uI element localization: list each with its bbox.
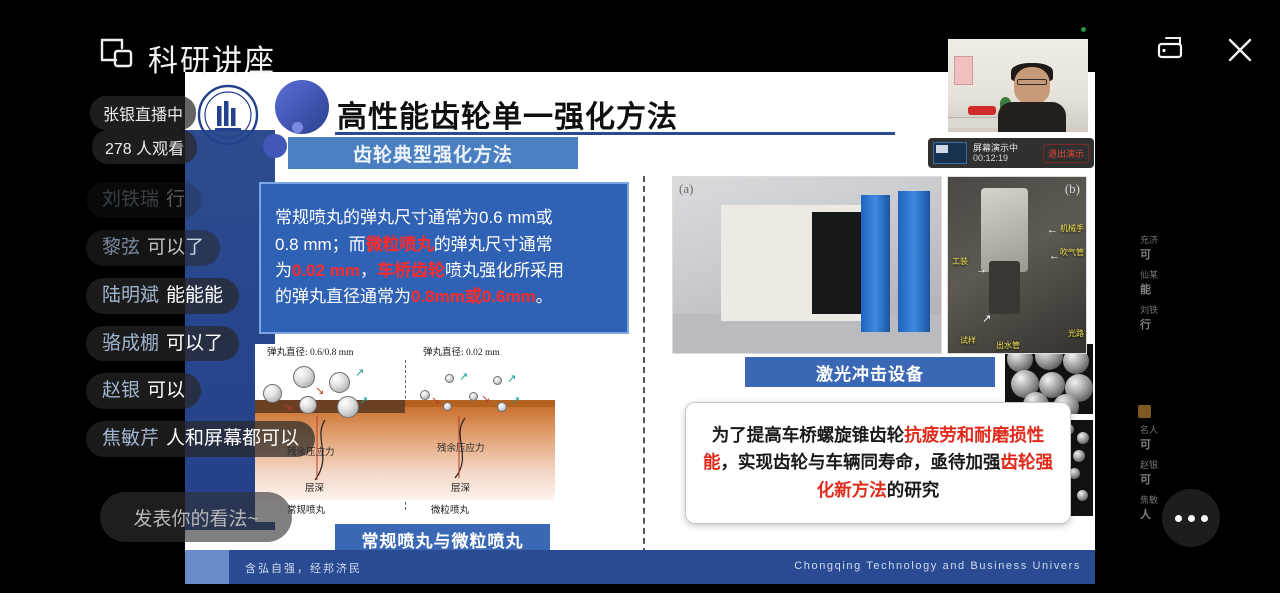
micro-peening-ball: [493, 376, 502, 385]
minimize-window-icon: [1154, 33, 1194, 67]
chat-user: 黎弦: [102, 237, 140, 258]
panel-row: 赵银可: [1138, 455, 1184, 490]
chat-text: 可以了: [147, 237, 204, 258]
robot-label-fixture: 工装: [952, 256, 968, 267]
conclusion-l1-a: 为了提高车桥螺旋锥齿轮: [712, 425, 905, 445]
blue-line4-highlight: 0.8mm或0.6mm: [411, 287, 536, 306]
minimize-window-button[interactable]: [1154, 30, 1194, 70]
photo-robot-arm: (b) 机械手 吹气管 工装 试样 出水管 光路 ← ← → ↗: [947, 176, 1087, 354]
close-button[interactable]: [1220, 30, 1260, 70]
chat-message-list: 刘铁瑞行 黎弦可以了 陆明斌能能能 骆成棚可以了 赵银可以 焦敏芹人和屏幕都可以: [86, 182, 386, 469]
slide-deco-circle-small: [292, 122, 303, 133]
impact-arrow-icon: ↘: [431, 396, 440, 407]
panel-row: 刘铁行: [1138, 300, 1184, 335]
panel-avatar: [1138, 405, 1151, 418]
page-title: 科研讲座: [148, 36, 276, 80]
robot-label-water-tube: 出水管: [996, 340, 1020, 351]
chat-user: 焦敏芹: [102, 428, 159, 449]
chat-message: 焦敏芹人和屏幕都可以: [86, 421, 315, 457]
chat-user: 赵银: [102, 380, 140, 401]
robot-label-optical-path: 光路: [1068, 328, 1084, 339]
share-timer: 00:12:19: [973, 153, 1018, 163]
rebound-arrow-icon: ↗: [459, 372, 468, 383]
photo-a-tag: (a): [679, 181, 693, 197]
slide-footer-accent: [185, 550, 229, 584]
slide-conclusion-box: 为了提高车桥螺旋锥齿轮抗疲劳和耐磨损性能，实现齿轮与车辆同寿命，亟待加强齿轮强化…: [685, 402, 1071, 524]
share-status-text: 屏幕演示中 00:12:19: [973, 143, 1018, 164]
more-dot-icon: [1175, 515, 1182, 522]
blue-line3-highlight-2: 车桥齿轮: [377, 261, 445, 280]
chat-message: 赵银可以: [86, 373, 201, 409]
live-lecture-window: 高性能齿轮单一强化方法 重 Chongqing 齿轮典型强化方法 常规喷丸的弹丸…: [0, 0, 1280, 593]
slide-footer-motto: 含弘自强，经邦济民: [245, 560, 362, 576]
chat-text: 可以了: [166, 333, 223, 354]
share-status-label: 屏幕演示中: [973, 143, 1018, 153]
conclusion-l2-b: ，实现齿轮与车辆同寿命，亟待: [721, 452, 966, 472]
chat-message: 刘铁瑞行: [86, 182, 201, 218]
rebound-arrow-icon: ↗: [511, 396, 520, 407]
picture-in-picture-icon[interactable]: [98, 34, 136, 72]
chat-text: 行: [166, 189, 185, 210]
blue-line4-b: 。: [536, 287, 553, 306]
window-header: 科研讲座: [0, 0, 1280, 92]
chat-message: 黎弦可以了: [86, 230, 220, 266]
host-status-badge: 张银直播中: [90, 96, 196, 130]
annotation-arrow-icon: ↗: [982, 314, 991, 325]
annotation-arrow-icon: ←: [1049, 251, 1060, 262]
slide-vertical-divider: [643, 176, 645, 564]
caption-laser-equipment: 激光冲击设备: [745, 357, 995, 387]
chat-user: 刘铁瑞: [102, 189, 159, 210]
screen-share-badge: 屏幕演示中 00:12:19 退出演示: [928, 138, 1094, 168]
chat-text: 人和屏幕都可以: [166, 428, 299, 449]
recording-indicator-icon: [1081, 27, 1086, 32]
chat-user: 陆明斌: [102, 285, 159, 306]
chat-user: 骆成棚: [102, 333, 159, 354]
conclusion-l3-a: 加强: [966, 452, 1001, 472]
robot-label-manipulator: 机械手: [1060, 223, 1084, 234]
chat-text: 能能能: [166, 285, 223, 306]
conclusion-l1-highlight: 抗疲劳和耐磨: [904, 425, 1009, 445]
slide-title-underline: [335, 132, 895, 135]
slide-subtitle: 齿轮典型强化方法: [353, 140, 513, 167]
photo-laser-equipment: (a): [672, 176, 942, 354]
slide-footer: 含弘自强，经邦济民 Chongqing Technology and Busin…: [185, 550, 1095, 584]
chat-text: 可以: [147, 380, 185, 401]
robot-label-specimen: 试样: [960, 335, 976, 346]
conclusion-text: 为了提高车桥螺旋锥齿轮抗疲劳和耐磨损性能，实现齿轮与车辆同寿命，亟待加强齿轮强化…: [702, 422, 1054, 503]
micro-peening-ball: [445, 374, 454, 383]
window-controls: [1154, 30, 1260, 70]
diagram-label-right: 弹丸直径: 0.02 mm: [423, 344, 500, 358]
conclusion-l3-b: 的研究: [887, 480, 940, 500]
blue-line2-b: 的弹丸尺寸通常: [434, 235, 553, 254]
annotation-arrow-icon: →: [976, 265, 987, 276]
slide-footer-university: Chongqing Technology and Business Univer…: [794, 560, 1081, 572]
micro-peening-ball: [420, 390, 430, 400]
more-options-button[interactable]: [1162, 489, 1220, 547]
chat-message: 骆成棚可以了: [86, 326, 239, 362]
photo-b-tag: (b): [1065, 181, 1080, 197]
share-thumbnail-icon: [933, 142, 967, 164]
rebound-arrow-icon: ↗: [507, 374, 516, 385]
panel-row: 名人可: [1138, 420, 1184, 455]
chat-input[interactable]: 发表你的看法~: [100, 492, 292, 542]
chat-message: 陆明斌能能能: [86, 278, 239, 314]
slide-subtitle-bar: 齿轮典型强化方法: [288, 137, 578, 169]
micro-peening-ball: [469, 392, 478, 401]
slide-title: 高性能齿轮单一强化方法: [337, 92, 678, 136]
panel-row: 仙某能: [1138, 265, 1184, 300]
robot-label-air-tube: 吹气管: [1060, 247, 1084, 258]
micro-peening-ball: [497, 402, 507, 412]
slide-deco-circle-medium: [263, 134, 287, 158]
viewer-count-badge: 278 人观看: [92, 130, 197, 164]
exit-share-button[interactable]: 退出演示: [1043, 144, 1089, 163]
more-dot-icon: [1188, 515, 1195, 522]
presenter-camera-pip[interactable]: [948, 39, 1088, 132]
more-dot-icon: [1201, 515, 1208, 522]
impact-arrow-icon: ↘: [481, 394, 490, 405]
micro-peening-ball: [443, 402, 452, 411]
blue-line3-c: 喷丸强化所采用: [445, 261, 564, 280]
annotation-arrow-icon: ←: [1047, 225, 1058, 236]
panel-row: 充济可: [1138, 230, 1184, 265]
close-icon: [1223, 33, 1257, 67]
slide-school-logo-icon: [197, 84, 259, 146]
